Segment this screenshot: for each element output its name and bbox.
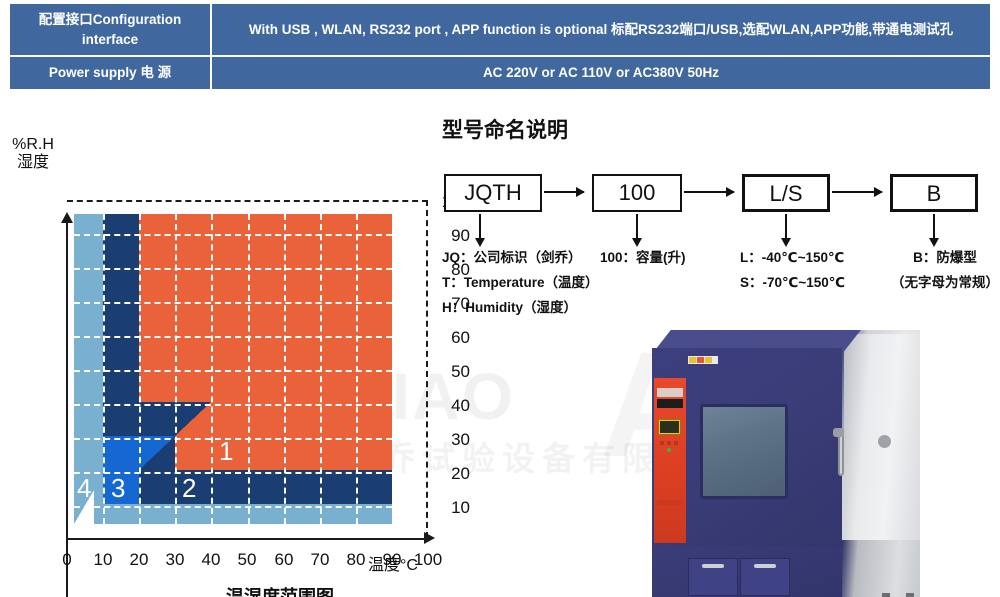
y-tick-40: 40 bbox=[426, 396, 470, 416]
x-tick-90: 90 bbox=[372, 550, 412, 570]
zone-label-3: 3 bbox=[111, 475, 125, 501]
naming-legend-column-4: B：防爆型 （无字母为常规） bbox=[880, 246, 1000, 296]
arrow-down-icon-1 bbox=[479, 214, 481, 238]
control-panel-lcd-screen bbox=[660, 421, 679, 433]
control-panel-bottom-label bbox=[657, 500, 683, 505]
gridline-v-30 bbox=[175, 214, 177, 524]
chamber-door-handle bbox=[838, 434, 844, 476]
chart-boundary-top bbox=[67, 200, 428, 202]
naming-box-explosion: B bbox=[890, 174, 978, 212]
model-naming-section: 型号命名说明 JQTH 100 L/S B JQ：公司标识（剑乔） T：Temp… bbox=[440, 110, 1000, 320]
arrow-down-icon-2 bbox=[636, 214, 638, 238]
zone-label-1: 1 bbox=[219, 438, 233, 464]
chart-caption: 温湿度范围图 bbox=[150, 583, 410, 597]
x-tick-50: 50 bbox=[227, 550, 267, 570]
chamber-base-side bbox=[842, 540, 920, 597]
chart-x-axis bbox=[66, 538, 430, 540]
chamber-viewing-window bbox=[700, 404, 788, 499]
gridline-v-20 bbox=[139, 214, 141, 524]
arrow-right-icon-1 bbox=[544, 191, 584, 193]
arrow-right-icon-3 bbox=[832, 191, 882, 193]
chart-boundary-right bbox=[426, 200, 428, 538]
legend-capacity: 100：容量(升) bbox=[600, 246, 740, 271]
y-tick-20: 20 bbox=[426, 464, 470, 484]
warning-badge-3 bbox=[705, 357, 712, 363]
gridline-h-60 bbox=[74, 336, 392, 338]
gridline-v-80 bbox=[356, 214, 358, 524]
page-root: 配置接口Configuration interface With USB , W… bbox=[0, 0, 1000, 597]
control-button-3 bbox=[674, 441, 678, 445]
gridline-h-40 bbox=[74, 404, 392, 406]
x-tick-40: 40 bbox=[191, 550, 231, 570]
arrow-right-icon-2 bbox=[684, 191, 734, 193]
gridline-v-60 bbox=[284, 214, 286, 524]
spec-value-power-supply: AC 220V or AC 110V or AC380V 50Hz bbox=[211, 56, 991, 90]
chart-plot-area: 1 2 3 4 bbox=[67, 200, 428, 538]
indicator-light-1 bbox=[660, 448, 664, 452]
gridline-h-70 bbox=[74, 302, 392, 304]
naming-box-jqth: JQTH bbox=[444, 174, 542, 212]
table-row-power-supply: Power supply 电 源 AC 220V or AC 110V or A… bbox=[9, 56, 991, 90]
gridline-v-70 bbox=[320, 214, 322, 524]
zone-label-2: 2 bbox=[182, 475, 196, 501]
x-tick-10: 10 bbox=[83, 550, 123, 570]
chamber-side-port bbox=[878, 435, 891, 448]
warning-badge-2 bbox=[697, 357, 704, 363]
y-axis-label-line2: 湿度 bbox=[17, 154, 49, 171]
gridline-h-90 bbox=[74, 234, 392, 236]
x-tick-20: 20 bbox=[119, 550, 159, 570]
x-tick-0: 0 bbox=[47, 550, 87, 570]
naming-box-temp-range: L/S bbox=[742, 174, 830, 212]
x-tick-60: 60 bbox=[264, 550, 304, 570]
legend-b: B：防爆型 bbox=[880, 246, 1000, 271]
chamber-caster-2 bbox=[906, 593, 914, 597]
product-photo-test-chamber bbox=[610, 300, 1000, 597]
temperature-humidity-chart: %R.H 湿度 温度°C 100 90 80 70 60 50 40 30 20… bbox=[0, 100, 470, 597]
y-tick-10: 10 bbox=[426, 498, 470, 518]
gridline-v-50 bbox=[248, 214, 250, 524]
control-panel-display-strip bbox=[657, 399, 683, 408]
legend-l: L：-40℃~150℃ bbox=[740, 246, 890, 271]
table-row-config-interface: 配置接口Configuration interface With USB , W… bbox=[9, 3, 991, 56]
gridline-h-50 bbox=[74, 370, 392, 372]
gridline-h-80 bbox=[74, 268, 392, 270]
gridline-v-40 bbox=[211, 214, 213, 524]
arrow-down-icon-4 bbox=[933, 214, 935, 238]
y-tick-60: 60 bbox=[426, 328, 470, 348]
cabinet-handle-left bbox=[702, 564, 724, 568]
cabinet-handle-right bbox=[754, 564, 776, 568]
zone-label-4: 4 bbox=[77, 475, 91, 501]
indicator-light-2 bbox=[667, 448, 671, 452]
naming-legend-column-3: L：-40℃~150℃ S：-70℃~150℃ bbox=[740, 246, 890, 296]
control-panel-label bbox=[657, 388, 683, 397]
gridline-h-10 bbox=[74, 506, 392, 508]
legend-jq: JQ：公司标识（剑乔） bbox=[442, 246, 592, 271]
chart-y-axis-label: %R.H 湿度 bbox=[4, 136, 62, 173]
warning-badge-1 bbox=[689, 357, 696, 363]
indicator-light-3 bbox=[674, 448, 678, 452]
control-button-2 bbox=[667, 441, 671, 445]
naming-legend-column-2: 100：容量(升) bbox=[600, 246, 740, 271]
specification-table: 配置接口Configuration interface With USB , W… bbox=[8, 2, 992, 91]
legend-t: T：Temperature（温度） bbox=[442, 271, 592, 296]
x-tick-100: 100 bbox=[408, 550, 448, 570]
arrow-down-icon-3 bbox=[785, 214, 787, 238]
y-tick-30: 30 bbox=[426, 430, 470, 450]
spec-value-config-interface: With USB , WLAN, RS232 port , APP functi… bbox=[211, 3, 991, 56]
spec-label-config-interface: 配置接口Configuration interface bbox=[9, 3, 211, 56]
x-tick-70: 70 bbox=[300, 550, 340, 570]
x-tick-80: 80 bbox=[336, 550, 376, 570]
y-tick-50: 50 bbox=[426, 362, 470, 382]
legend-h: H：Humidity（湿度） bbox=[442, 296, 592, 321]
chamber-caster-1 bbox=[882, 593, 890, 597]
x-tick-30: 30 bbox=[155, 550, 195, 570]
y-axis-label-line1: %R.H bbox=[12, 136, 54, 153]
naming-legend-column-1: JQ：公司标识（剑乔） T：Temperature（温度） H：Humidity… bbox=[442, 246, 592, 321]
spec-label-power-supply: Power supply 电 源 bbox=[9, 56, 211, 90]
legend-b-note: （无字母为常规） bbox=[880, 271, 1000, 296]
naming-box-capacity: 100 bbox=[592, 174, 682, 212]
chamber-door-latch bbox=[833, 428, 844, 437]
gridline-v-10 bbox=[103, 214, 105, 524]
control-button-1 bbox=[660, 441, 664, 445]
naming-section-title: 型号命名说明 bbox=[442, 114, 568, 144]
legend-s: S：-70℃~150℃ bbox=[740, 271, 890, 296]
